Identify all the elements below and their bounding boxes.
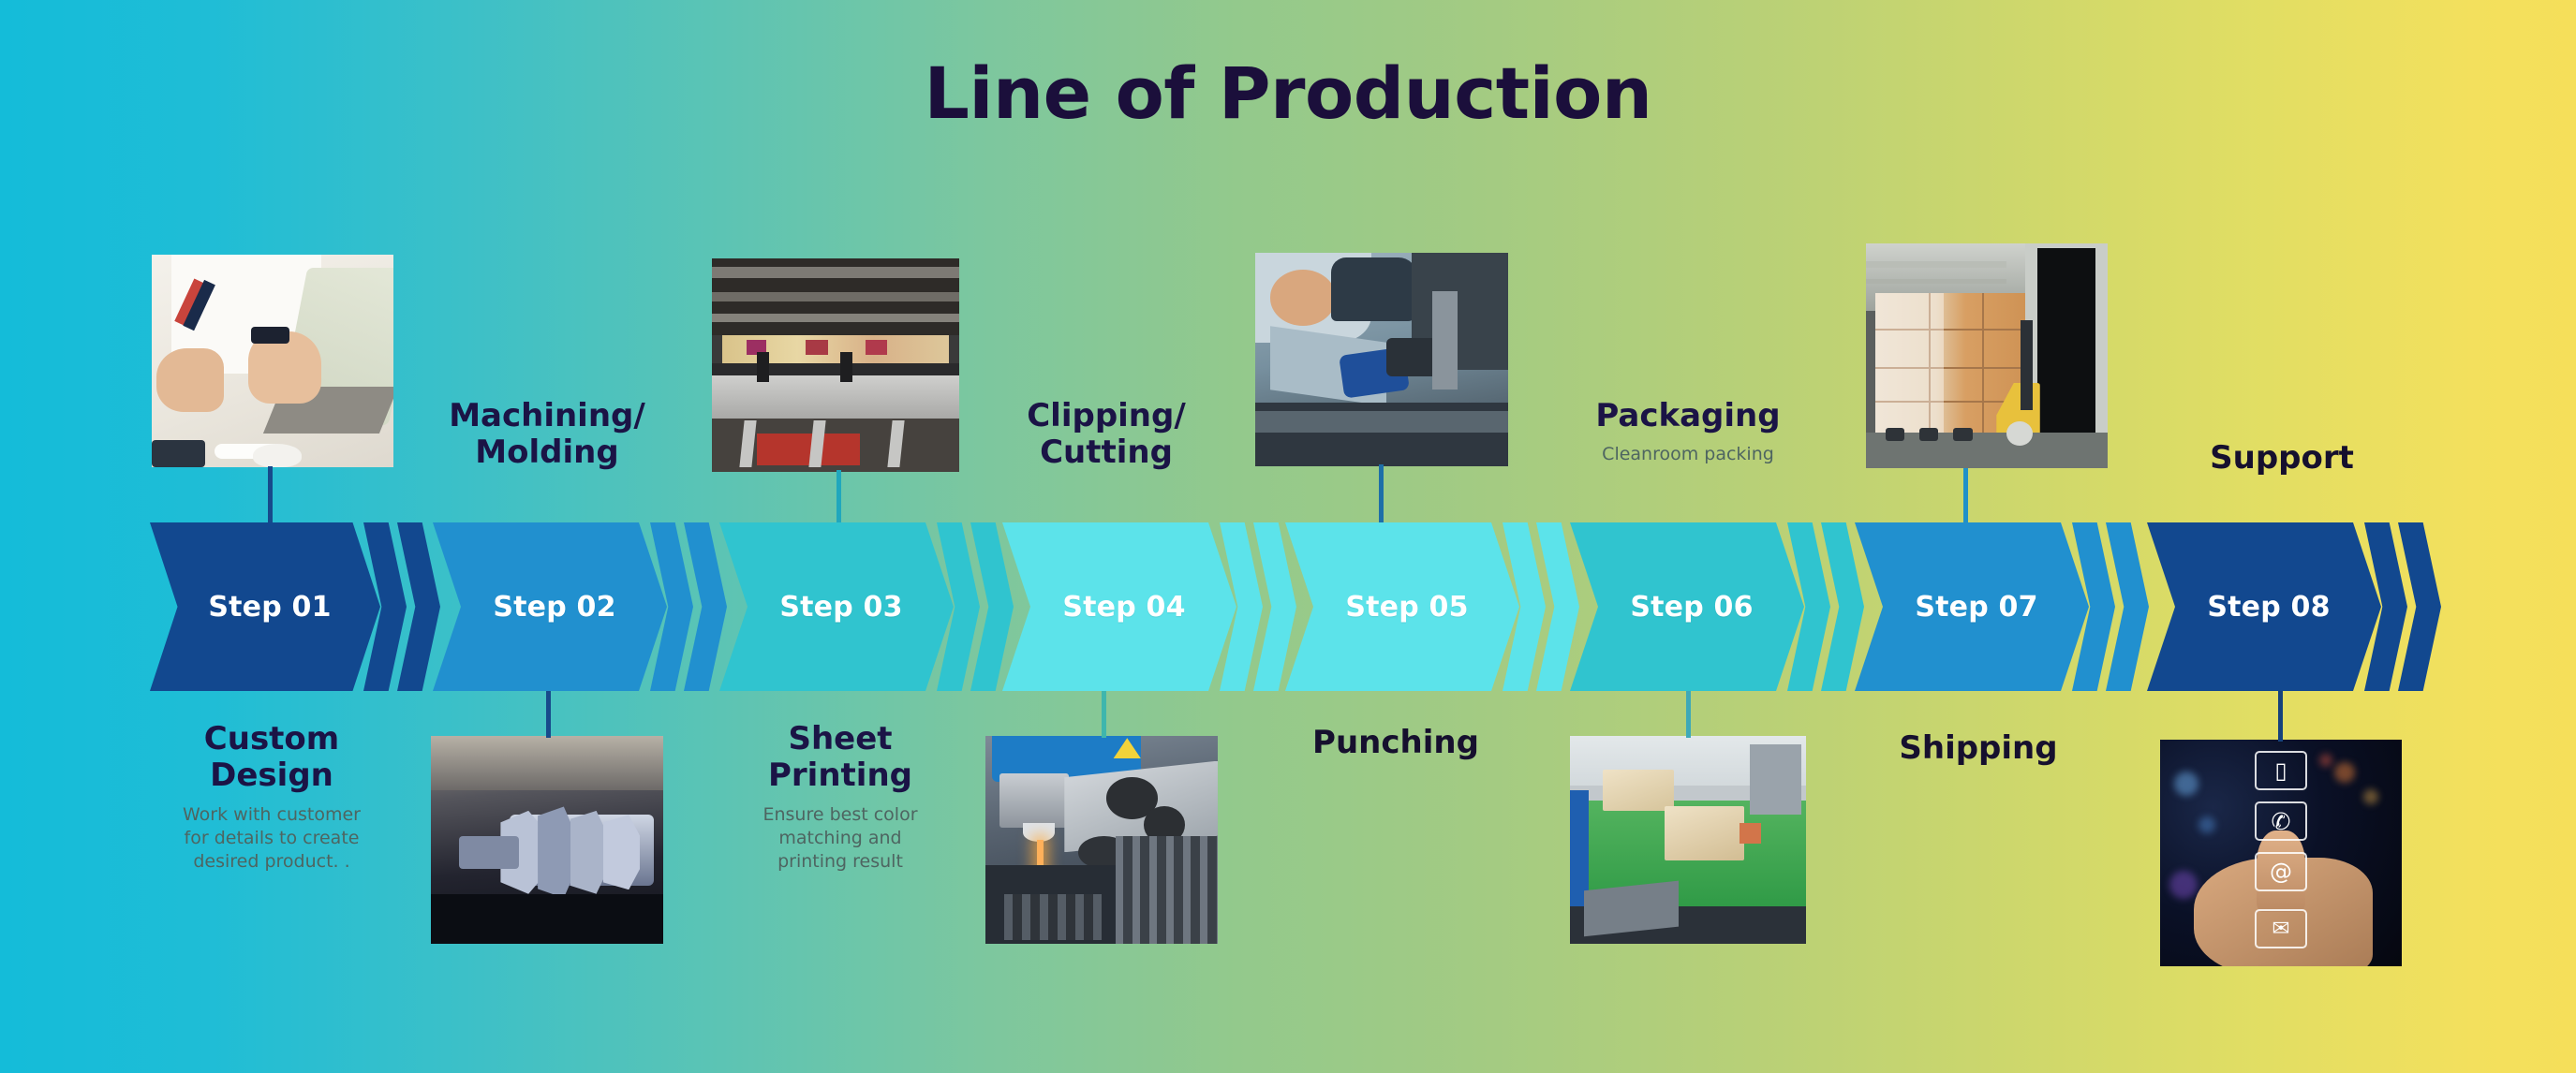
chevron-step-04-label: Step 04 bbox=[1053, 591, 1185, 624]
chevron-step-07-label: Step 07 bbox=[1905, 591, 2037, 624]
chevron-step-08[interactable]: Step 08 bbox=[2147, 522, 2381, 691]
chevron-step-03[interactable]: Step 03 bbox=[719, 522, 954, 691]
connector-step-06 bbox=[1686, 689, 1691, 738]
connector-step-07 bbox=[1963, 468, 1968, 524]
contact-tile-email: @ bbox=[2255, 852, 2307, 891]
label-step-03-heading: Sheet Printing bbox=[704, 721, 976, 795]
label-step-06: Packaging Cleanroom packing bbox=[1547, 398, 1828, 467]
chevron-step-02[interactable]: Step 02 bbox=[433, 522, 667, 691]
chevron-step-03-label: Step 03 bbox=[770, 591, 902, 624]
label-step-01-desc: Work with customer for details to create… bbox=[131, 803, 412, 874]
connector-step-04 bbox=[1102, 689, 1106, 738]
photo-step-01 bbox=[152, 255, 393, 467]
label-step-02: Machining/ Molding bbox=[407, 398, 688, 472]
label-step-03: Sheet Printing Ensure best color matchin… bbox=[704, 721, 976, 874]
label-step-04-heading: Clipping/ Cutting bbox=[970, 398, 1242, 472]
envelope-icon: ✉ bbox=[2272, 917, 2289, 941]
contact-tile-mobile: ▯ bbox=[2255, 751, 2307, 790]
connector-step-05 bbox=[1379, 464, 1384, 524]
chevron-step-05-label: Step 05 bbox=[1336, 591, 1468, 624]
connector-step-01 bbox=[268, 466, 273, 524]
label-step-08-heading: Support bbox=[2141, 440, 2422, 477]
photo-step-05 bbox=[1255, 253, 1508, 466]
label-step-02-heading: Machining/ Molding bbox=[407, 398, 688, 472]
chevron-step-08-label: Step 08 bbox=[2198, 591, 2330, 624]
page-title: Line of Production bbox=[0, 51, 2576, 135]
photo-step-03 bbox=[712, 258, 959, 472]
photo-step-08: ▯ ✆ @ ✉ bbox=[2160, 740, 2402, 966]
chevron-step-05[interactable]: Step 05 bbox=[1285, 522, 1519, 691]
photo-step-06 bbox=[1570, 736, 1806, 944]
chevron-step-01-label: Step 01 bbox=[199, 591, 331, 624]
connector-step-03 bbox=[836, 470, 841, 524]
label-step-05: Punching bbox=[1255, 725, 1536, 761]
chevron-step-04[interactable]: Step 04 bbox=[1002, 522, 1236, 691]
connector-step-08 bbox=[2278, 689, 2283, 742]
chevron-step-02-label: Step 02 bbox=[483, 591, 615, 624]
photo-step-07 bbox=[1866, 243, 2108, 468]
process-chevron-band: Step 01 Step 02 Step 03 Step 04 Step 05 … bbox=[0, 522, 2576, 691]
label-step-08: Support bbox=[2141, 440, 2422, 477]
label-step-03-desc: Ensure best color matching and printing … bbox=[704, 803, 976, 874]
chevron-step-07[interactable]: Step 07 bbox=[1855, 522, 2089, 691]
label-step-01: Custom Design Work with customer for det… bbox=[131, 721, 412, 874]
telephone-icon: ✆ bbox=[2272, 808, 2291, 835]
photo-step-04 bbox=[985, 736, 1218, 944]
contact-tile-phone: ✆ bbox=[2255, 801, 2307, 841]
label-step-05-heading: Punching bbox=[1255, 725, 1536, 761]
at-email-icon: @ bbox=[2270, 859, 2292, 885]
chevron-step-01[interactable]: Step 01 bbox=[150, 522, 380, 691]
contact-tile-envelope: ✉ bbox=[2255, 909, 2307, 948]
label-step-04: Clipping/ Cutting bbox=[970, 398, 1242, 472]
connector-step-02 bbox=[546, 689, 551, 738]
chevron-step-06[interactable]: Step 06 bbox=[1570, 522, 1804, 691]
label-step-06-desc: Cleanroom packing bbox=[1547, 443, 1828, 466]
chevron-step-06-label: Step 06 bbox=[1621, 591, 1753, 624]
label-step-06-heading: Packaging bbox=[1547, 398, 1828, 434]
label-step-07-heading: Shipping bbox=[1838, 730, 2119, 767]
mobile-phone-icon: ▯ bbox=[2274, 757, 2287, 784]
label-step-01-heading: Custom Design bbox=[131, 721, 412, 795]
label-step-07: Shipping bbox=[1838, 730, 2119, 767]
photo-step-02 bbox=[431, 736, 663, 944]
